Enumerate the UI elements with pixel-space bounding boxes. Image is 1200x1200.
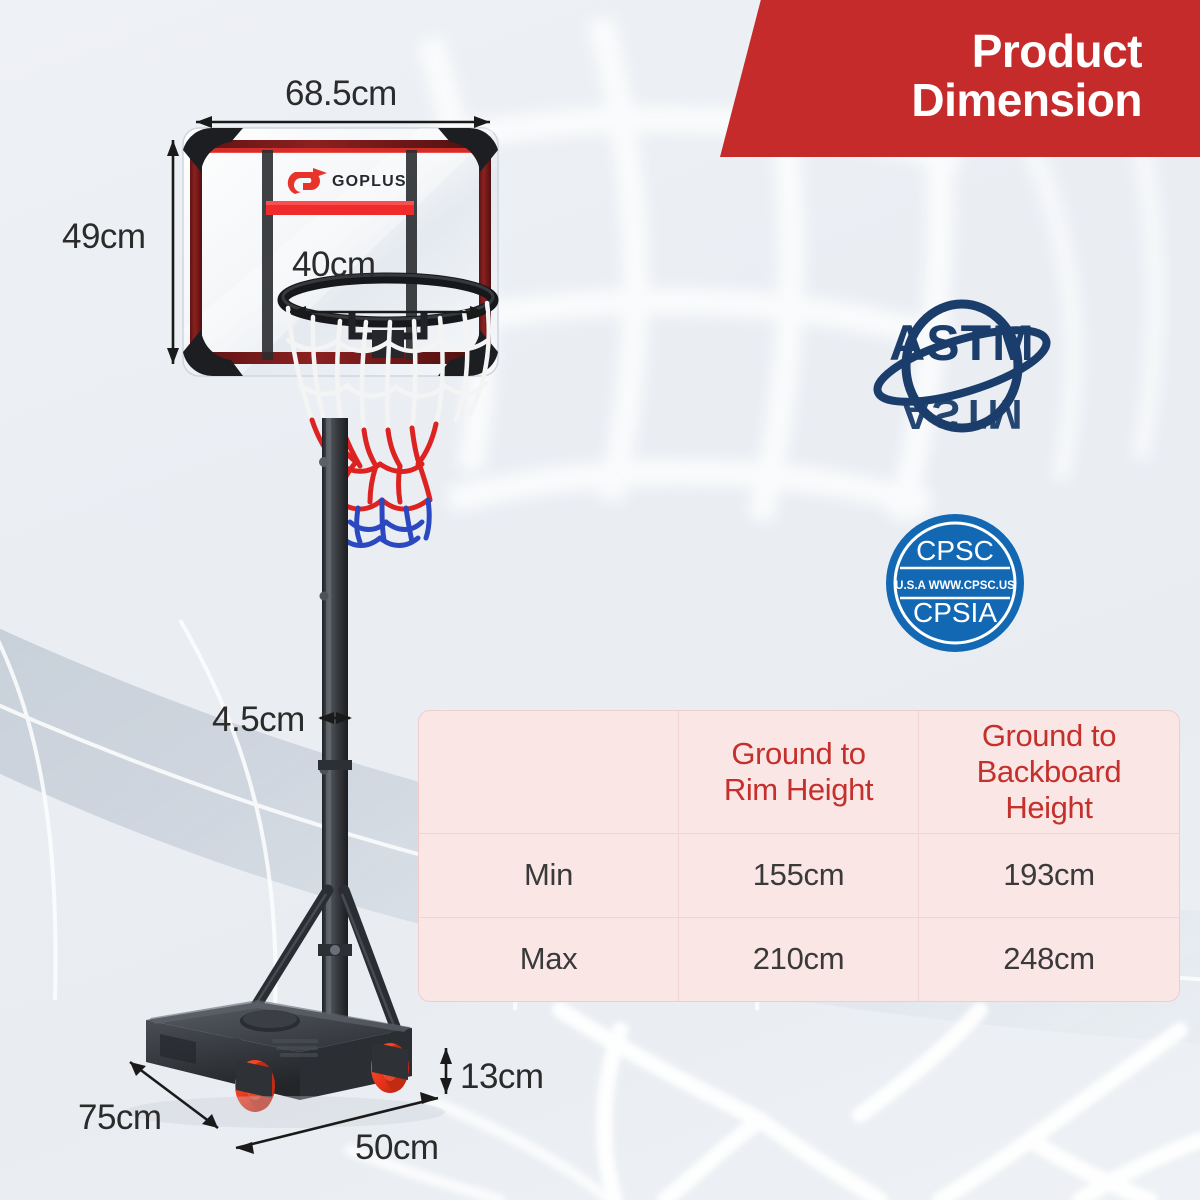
- astm-certification-logo: ASTM ASTM: [862, 288, 1062, 448]
- label-base-depth: 75cm: [78, 1098, 162, 1138]
- specification-table: Ground to Rim Height Ground to Backboard…: [418, 710, 1180, 1002]
- header-bb-line2: Backboard: [977, 754, 1122, 789]
- table-row-max-label: Max: [419, 918, 679, 1001]
- header-rim-line1: Ground to: [731, 736, 865, 771]
- table-row-min-backboard: 193cm: [919, 834, 1179, 917]
- table-header-backboard-height: Ground to Backboard Height: [919, 711, 1179, 834]
- table-header-blank: [419, 711, 679, 834]
- svg-text:ASTM: ASTM: [889, 315, 1035, 371]
- table-header-rim-height: Ground to Rim Height: [679, 711, 919, 834]
- cpsc-line1: CPSC: [916, 535, 994, 566]
- header-bb-line1: Ground to: [982, 718, 1116, 753]
- svg-text:ASTM: ASTM: [901, 391, 1024, 438]
- table-row-min-label: Min: [419, 834, 679, 917]
- infographic-canvas: Product Dimension: [0, 0, 1200, 1200]
- label-base-height: 13cm: [460, 1057, 544, 1097]
- label-backboard-width: 68.5cm: [285, 74, 397, 114]
- label-backboard-height: 49cm: [62, 217, 146, 257]
- cpsc-line2: U.S.A WWW.CPSC.US: [895, 580, 1015, 592]
- table-row-min-rim: 155cm: [679, 834, 919, 917]
- header-bb-line3: Height: [1005, 790, 1092, 825]
- cpsc-certification-logo: CPSC U.S.A WWW.CPSC.US CPSIA: [884, 512, 1026, 654]
- cpsc-line3: CPSIA: [913, 597, 997, 628]
- table-row-max-rim: 210cm: [679, 918, 919, 1001]
- header-rim-line2: Rim Height: [724, 772, 873, 807]
- svg-text:GOPLUS: GOPLUS: [332, 173, 407, 190]
- label-base-width: 50cm: [355, 1128, 439, 1168]
- table-row-max-backboard: 248cm: [919, 918, 1179, 1001]
- label-pole-diameter: 4.5cm: [212, 700, 305, 740]
- label-rim-diameter: 40cm: [292, 245, 376, 285]
